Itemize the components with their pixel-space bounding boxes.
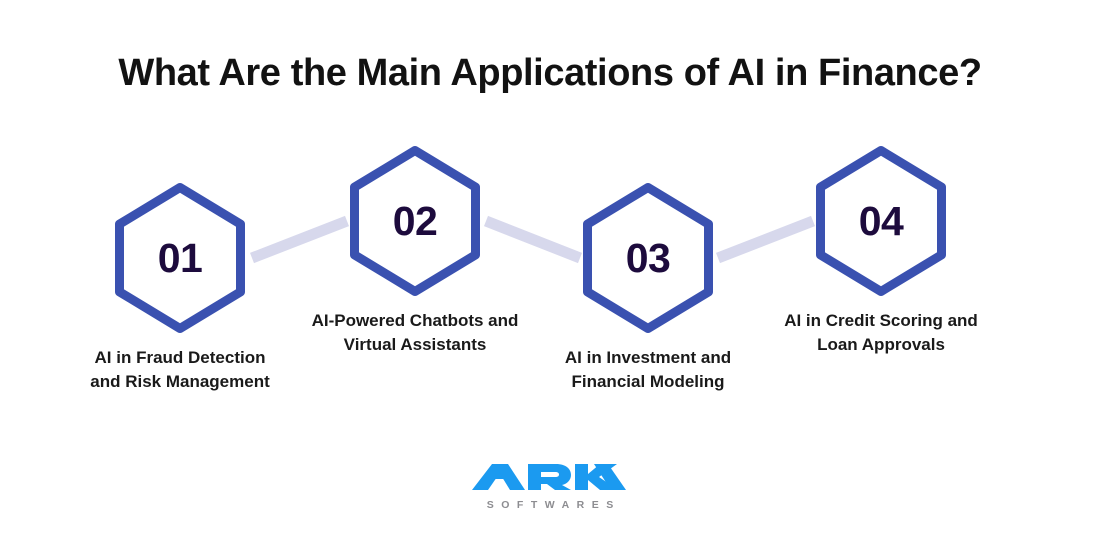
step-caption: AI in Investment and Financial Modeling bbox=[548, 346, 748, 394]
brand-tagline: SOFTWARES bbox=[0, 499, 1100, 511]
hexagon-badge-03[interactable]: 03 bbox=[582, 182, 714, 334]
step-01[interactable]: 01AI in Fraud Detection and Risk Managem… bbox=[50, 182, 310, 394]
hexagon-badge-01[interactable]: 01 bbox=[114, 182, 246, 334]
brand-logo: SOFTWARES bbox=[0, 462, 1100, 511]
hexagon-badge-02[interactable]: 02 bbox=[349, 145, 481, 297]
step-04[interactable]: 04AI in Credit Scoring and Loan Approval… bbox=[751, 145, 1011, 357]
step-03[interactable]: 03AI in Investment and Financial Modelin… bbox=[518, 182, 778, 394]
arka-wordmark-icon bbox=[470, 462, 630, 492]
hexagon-badge-04[interactable]: 04 bbox=[815, 145, 947, 297]
step-number: 01 bbox=[114, 182, 246, 334]
step-02[interactable]: 02AI-Powered Chatbots and Virtual Assist… bbox=[285, 145, 545, 357]
step-number: 03 bbox=[582, 182, 714, 334]
infographic-canvas: What Are the Main Applications of AI in … bbox=[0, 0, 1100, 550]
step-number: 04 bbox=[815, 145, 947, 297]
step-caption: AI-Powered Chatbots and Virtual Assistan… bbox=[290, 309, 540, 357]
step-caption: AI in Fraud Detection and Risk Managemen… bbox=[80, 346, 280, 394]
step-caption: AI in Credit Scoring and Loan Approvals bbox=[781, 309, 981, 357]
step-number: 02 bbox=[349, 145, 481, 297]
